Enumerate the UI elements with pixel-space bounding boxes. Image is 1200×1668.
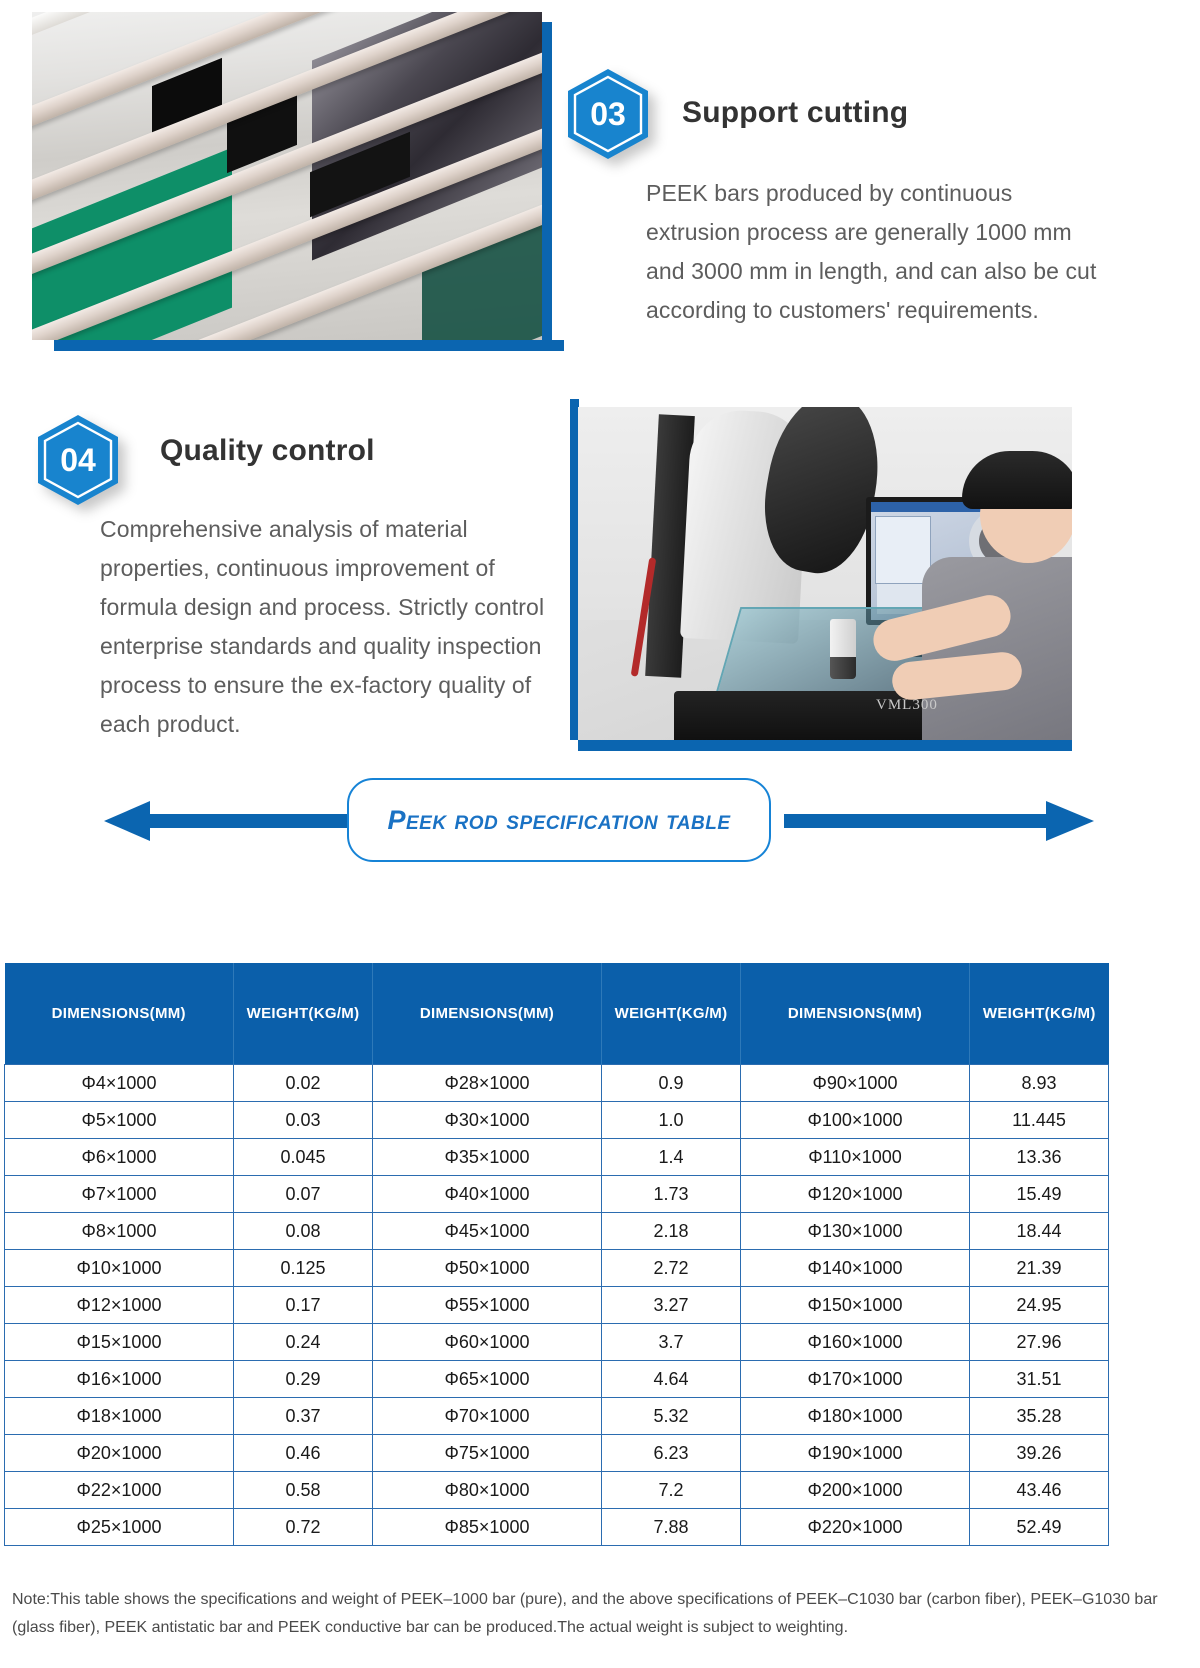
banner-arrow-left-bar bbox=[150, 814, 360, 828]
photo-quality-lab-image: VML300 bbox=[578, 407, 1072, 740]
table-cell: Φ45×1000 bbox=[373, 1213, 602, 1250]
table-cell: Φ30×1000 bbox=[373, 1102, 602, 1139]
table-cell: Φ12×1000 bbox=[5, 1287, 234, 1324]
step-body-04: Comprehensive analysis of material prope… bbox=[100, 510, 570, 744]
table-row: Φ20×10000.46Φ75×10006.23Φ190×100039.26 bbox=[5, 1435, 1109, 1472]
table-cell: 21.39 bbox=[970, 1250, 1109, 1287]
table-cell: 6.23 bbox=[602, 1435, 741, 1472]
specification-note: Note:This table shows the specifications… bbox=[12, 1586, 1188, 1642]
table-row: Φ18×10000.37Φ70×10005.32Φ180×100035.28 bbox=[5, 1398, 1109, 1435]
step-title-04: Quality control bbox=[160, 434, 375, 468]
peek-rod-specification-table: DIMENSIONS(MM) WEIGHT(KG/M) DIMENSIONS(M… bbox=[4, 963, 1109, 1546]
table-header-cell: WEIGHT(KG/M) bbox=[602, 963, 741, 1065]
table-cell: 5.32 bbox=[602, 1398, 741, 1435]
table-cell: Φ110×1000 bbox=[741, 1139, 970, 1176]
arrow-right-icon bbox=[1046, 801, 1094, 841]
table-cell: 24.95 bbox=[970, 1287, 1109, 1324]
step-badge-04-number: 04 bbox=[36, 414, 120, 506]
table-cell: Φ8×1000 bbox=[5, 1213, 234, 1250]
table-cell: 2.72 bbox=[602, 1250, 741, 1287]
table-cell: 0.045 bbox=[234, 1139, 373, 1176]
table-cell: Φ65×1000 bbox=[373, 1361, 602, 1398]
table-header-cell: DIMENSIONS(MM) bbox=[5, 963, 234, 1065]
table-cell: 1.0 bbox=[602, 1102, 741, 1139]
table-cell: 31.51 bbox=[970, 1361, 1109, 1398]
photo-accent-bar-bottom-2 bbox=[578, 740, 1072, 751]
table-cell: Φ180×1000 bbox=[741, 1398, 970, 1435]
table-cell: Φ4×1000 bbox=[5, 1065, 234, 1102]
table-cell: Φ16×1000 bbox=[5, 1361, 234, 1398]
table-row: Φ4×10000.02Φ28×10000.9Φ90×10008.93 bbox=[5, 1065, 1109, 1102]
table-cell: Φ6×1000 bbox=[5, 1139, 234, 1176]
table-cell: Φ190×1000 bbox=[741, 1435, 970, 1472]
table-cell: 7.2 bbox=[602, 1472, 741, 1509]
table-cell: 27.96 bbox=[970, 1324, 1109, 1361]
table-cell: 52.49 bbox=[970, 1509, 1109, 1546]
screen-side-panel bbox=[875, 516, 931, 584]
table-row: Φ5×10000.03Φ30×10001.0Φ100×100011.445 bbox=[5, 1102, 1109, 1139]
photo-peek-bars-image bbox=[32, 12, 542, 340]
table-cell: 39.26 bbox=[970, 1435, 1109, 1472]
table-cell: 35.28 bbox=[970, 1398, 1109, 1435]
step-title-03: Support cutting bbox=[682, 96, 908, 130]
table-cell: Φ170×1000 bbox=[741, 1361, 970, 1398]
table-cell: Φ60×1000 bbox=[373, 1324, 602, 1361]
table-cell: Φ150×1000 bbox=[741, 1287, 970, 1324]
table-cell: Φ220×1000 bbox=[741, 1509, 970, 1546]
table-cell: Φ5×1000 bbox=[5, 1102, 234, 1139]
table-row: Φ15×10000.24Φ60×10003.7Φ160×100027.96 bbox=[5, 1324, 1109, 1361]
sample-part-bottom bbox=[830, 657, 856, 679]
table-row: Φ25×10000.72Φ85×10007.88Φ220×100052.49 bbox=[5, 1509, 1109, 1546]
table-row: Φ22×10000.58Φ80×10007.2Φ200×100043.46 bbox=[5, 1472, 1109, 1509]
table-cell: 0.46 bbox=[234, 1435, 373, 1472]
table-header-row: DIMENSIONS(MM) WEIGHT(KG/M) DIMENSIONS(M… bbox=[5, 963, 1109, 1065]
table-cell: Φ25×1000 bbox=[5, 1509, 234, 1546]
arrow-left-icon bbox=[104, 801, 150, 841]
table-cell: 15.49 bbox=[970, 1176, 1109, 1213]
step-badge-03-number: 03 bbox=[566, 68, 650, 160]
table-cell: Φ7×1000 bbox=[5, 1176, 234, 1213]
table-cell: Φ85×1000 bbox=[373, 1509, 602, 1546]
table-cell: Φ75×1000 bbox=[373, 1435, 602, 1472]
photo-quality-lab: VML300 bbox=[578, 407, 1072, 740]
table-cell: 0.58 bbox=[234, 1472, 373, 1509]
table-cell: Φ18×1000 bbox=[5, 1398, 234, 1435]
table-cell: Φ20×1000 bbox=[5, 1435, 234, 1472]
table-cell: 43.46 bbox=[970, 1472, 1109, 1509]
step-badge-04: 04 bbox=[36, 414, 120, 506]
table-cell: Φ90×1000 bbox=[741, 1065, 970, 1102]
table-row: Φ8×10000.08Φ45×10002.18Φ130×100018.44 bbox=[5, 1213, 1109, 1250]
table-row: Φ6×10000.045Φ35×10001.4Φ110×100013.36 bbox=[5, 1139, 1109, 1176]
table-cell: 2.18 bbox=[602, 1213, 741, 1250]
table-cell: 0.72 bbox=[234, 1509, 373, 1546]
table-cell: 18.44 bbox=[970, 1213, 1109, 1250]
table-cell: 1.73 bbox=[602, 1176, 741, 1213]
table-cell: 3.27 bbox=[602, 1287, 741, 1324]
table-cell: Φ160×1000 bbox=[741, 1324, 970, 1361]
table-header-cell: DIMENSIONS(MM) bbox=[373, 963, 602, 1065]
table-row: Φ16×10000.29Φ65×10004.64Φ170×100031.51 bbox=[5, 1361, 1109, 1398]
table-cell: Φ55×1000 bbox=[373, 1287, 602, 1324]
table-cell: 0.02 bbox=[234, 1065, 373, 1102]
table-cell: Φ140×1000 bbox=[741, 1250, 970, 1287]
banner-arrow-right-bar bbox=[784, 814, 1046, 828]
machine-model-label: VML300 bbox=[876, 697, 938, 714]
table-cell: 1.4 bbox=[602, 1139, 741, 1176]
banner-title: Peek rod specification table bbox=[387, 805, 730, 836]
table-row: Φ10×10000.125Φ50×10002.72Φ140×100021.39 bbox=[5, 1250, 1109, 1287]
table-cell: Φ50×1000 bbox=[373, 1250, 602, 1287]
table-cell: Φ120×1000 bbox=[741, 1176, 970, 1213]
table-cell: Φ28×1000 bbox=[373, 1065, 602, 1102]
table-cell: 0.29 bbox=[234, 1361, 373, 1398]
photo-accent-bar-right bbox=[542, 22, 552, 350]
conveyor-scene bbox=[32, 12, 542, 340]
table-cell: 0.17 bbox=[234, 1287, 373, 1324]
table-row: Φ12×10000.17Φ55×10003.27Φ150×100024.95 bbox=[5, 1287, 1109, 1324]
table-cell: 3.7 bbox=[602, 1324, 741, 1361]
table-cell: 0.08 bbox=[234, 1213, 373, 1250]
table-cell: 13.36 bbox=[970, 1139, 1109, 1176]
table-cell: Φ70×1000 bbox=[373, 1398, 602, 1435]
table-cell: 11.445 bbox=[970, 1102, 1109, 1139]
table-cell: 0.37 bbox=[234, 1398, 373, 1435]
table-header-cell: WEIGHT(KG/M) bbox=[970, 963, 1109, 1065]
table-cell: Φ40×1000 bbox=[373, 1176, 602, 1213]
table-cell: Φ100×1000 bbox=[741, 1102, 970, 1139]
photo-peek-bars bbox=[32, 12, 542, 340]
table-cell: Φ200×1000 bbox=[741, 1472, 970, 1509]
step-body-03: PEEK bars produced by continuous extrusi… bbox=[646, 174, 1106, 330]
table-cell: Φ130×1000 bbox=[741, 1213, 970, 1250]
table-row: Φ7×10000.07Φ40×10001.73Φ120×100015.49 bbox=[5, 1176, 1109, 1213]
photo-accent-bar-bottom bbox=[54, 340, 564, 351]
table-cell: 0.24 bbox=[234, 1324, 373, 1361]
table-cell: 8.93 bbox=[970, 1065, 1109, 1102]
table-cell: 4.64 bbox=[602, 1361, 741, 1398]
table-cell: Φ15×1000 bbox=[5, 1324, 234, 1361]
table-cell: 7.88 bbox=[602, 1509, 741, 1546]
table-cell: 0.9 bbox=[602, 1065, 741, 1102]
table-cell: 0.03 bbox=[234, 1102, 373, 1139]
table-cell: 0.07 bbox=[234, 1176, 373, 1213]
table-cell: 0.125 bbox=[234, 1250, 373, 1287]
step-badge-03: 03 bbox=[566, 68, 650, 160]
lab-scene: VML300 bbox=[578, 407, 1072, 740]
table-header-cell: WEIGHT(KG/M) bbox=[234, 963, 373, 1065]
banner-title-box: Peek rod specification table bbox=[347, 778, 771, 862]
table-cell: Φ35×1000 bbox=[373, 1139, 602, 1176]
table-cell: Φ80×1000 bbox=[373, 1472, 602, 1509]
table-cell: Φ22×1000 bbox=[5, 1472, 234, 1509]
table-header-cell: DIMENSIONS(MM) bbox=[741, 963, 970, 1065]
table-cell: Φ10×1000 bbox=[5, 1250, 234, 1287]
